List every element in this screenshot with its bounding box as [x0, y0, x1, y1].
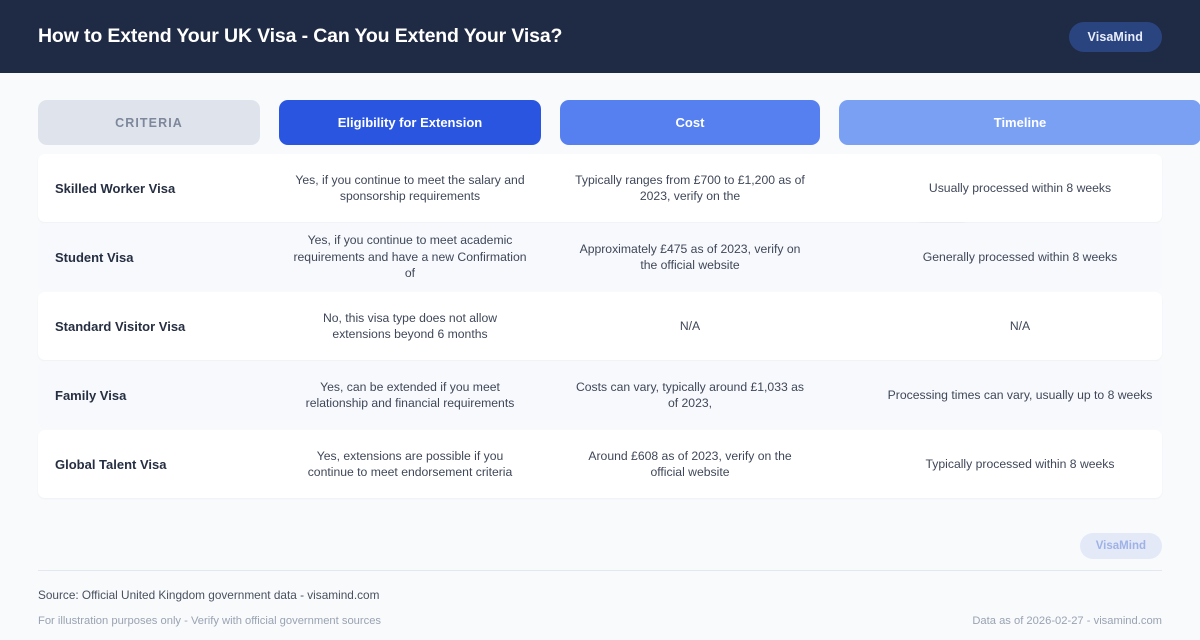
table-row: Skilled Worker Visa Yes, if you continue… [38, 154, 1162, 222]
row-cost-value: Approximately £475 as of 2023, verify on… [560, 241, 820, 274]
row-eligibility-value: Yes, if you continue to meet academic re… [279, 232, 541, 281]
page-header: How to Extend Your UK Visa - Can You Ext… [0, 0, 1200, 73]
infographic-root: How to Extend Your UK Visa - Can You Ext… [0, 0, 1200, 640]
tab-cost[interactable]: Cost [560, 100, 820, 145]
tab-criteria[interactable]: CRITERIA [38, 100, 260, 145]
row-cost-value: N/A [560, 318, 820, 334]
table-body: Skilled Worker Visa Yes, if you continue… [38, 154, 1162, 498]
row-timeline-value: N/A [839, 318, 1200, 334]
row-eligibility-value: Yes, extensions are possible if you cont… [279, 448, 541, 481]
row-cost-value: Costs can vary, typically around £1,033 … [560, 379, 820, 412]
comparison-board: CRITERIA Eligibility for Extension Cost … [0, 73, 1200, 570]
table-row: Global Talent Visa Yes, extensions are p… [38, 430, 1162, 498]
page-footer: VisaMind Source: Official United Kingdom… [0, 570, 1200, 640]
row-cost-value: Typically ranges from £700 to £1,200 as … [560, 172, 820, 205]
row-eligibility-value: Yes, if you continue to meet the salary … [279, 172, 541, 205]
footer-source-text: Source: Official United Kingdom governme… [38, 588, 1162, 602]
row-eligibility-value: No, this visa type does not allow extens… [279, 310, 541, 343]
tab-eligibility-for-extension[interactable]: Eligibility for Extension [279, 100, 541, 145]
tab-timeline[interactable]: Timeline [839, 100, 1200, 145]
table-row: Family Visa Yes, can be extended if you … [38, 361, 1162, 429]
brand-badge: VisaMind [1069, 22, 1162, 52]
row-criteria-label: Standard Visitor Visa [38, 318, 260, 335]
page-title: How to Extend Your UK Visa - Can You Ext… [38, 25, 562, 48]
row-criteria-label: Skilled Worker Visa [38, 180, 260, 197]
row-criteria-label: Global Talent Visa [38, 456, 260, 473]
row-cost-value: Around £608 as of 2023, verify on the of… [560, 448, 820, 481]
table-row: Standard Visitor Visa No, this visa type… [38, 292, 1162, 360]
footer-watermark-wrap: VisaMind [1080, 533, 1162, 559]
row-timeline-value: Processing times can vary, usually up to… [839, 387, 1200, 403]
row-eligibility-value: Yes, can be extended if you meet relatio… [279, 379, 541, 412]
footer-watermark-badge: VisaMind [1080, 533, 1162, 559]
footer-data-as-of-text: Data as of 2026-02-27 - visamind.com [972, 615, 1162, 627]
footer-bottom-row: For illustration purposes only - Verify … [38, 615, 1162, 640]
row-criteria-label: Student Visa [38, 249, 260, 266]
table-row: Student Visa Yes, if you continue to mee… [38, 223, 1162, 291]
footer-disclaimer-text: For illustration purposes only - Verify … [38, 615, 381, 627]
row-timeline-value: Generally processed within 8 weeks [839, 249, 1200, 265]
row-timeline-value: Usually processed within 8 weeks [839, 180, 1200, 196]
row-criteria-label: Family Visa [38, 387, 260, 404]
row-timeline-value: Typically processed within 8 weeks [839, 456, 1200, 472]
footer-divider [38, 570, 1162, 571]
column-header-tabs: CRITERIA Eligibility for Extension Cost … [38, 100, 1162, 145]
